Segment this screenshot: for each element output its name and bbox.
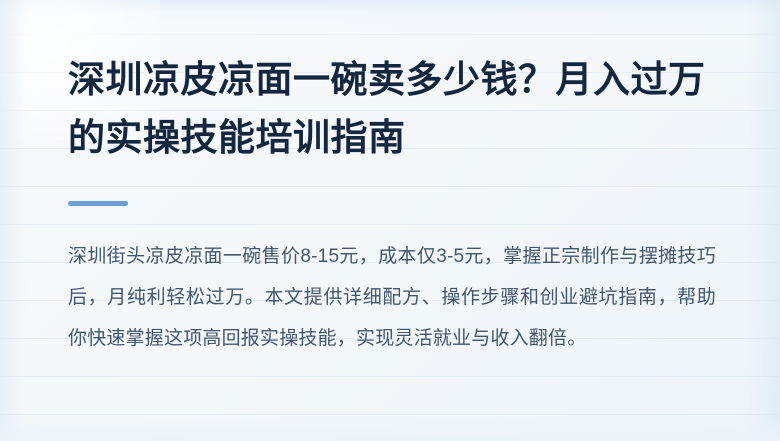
article-content: 深圳凉皮凉面一碗卖多少钱？月入过万的实操技能培训指南 深圳街头凉皮凉面一碗售价8…	[0, 52, 780, 359]
article-header-card: 深圳凉皮凉面一碗卖多少钱？月入过万的实操技能培训指南 深圳街头凉皮凉面一碗售价8…	[0, 0, 780, 441]
page-title: 深圳凉皮凉面一碗卖多少钱？月入过万的实操技能培训指南	[68, 52, 718, 168]
bottom-edge-shading	[0, 415, 780, 441]
article-summary: 深圳街头凉皮凉面一碗售价8-15元，成本仅3-5元，掌握正宗制作与摆摊技巧后，月…	[68, 236, 716, 359]
title-accent-divider	[68, 201, 128, 206]
